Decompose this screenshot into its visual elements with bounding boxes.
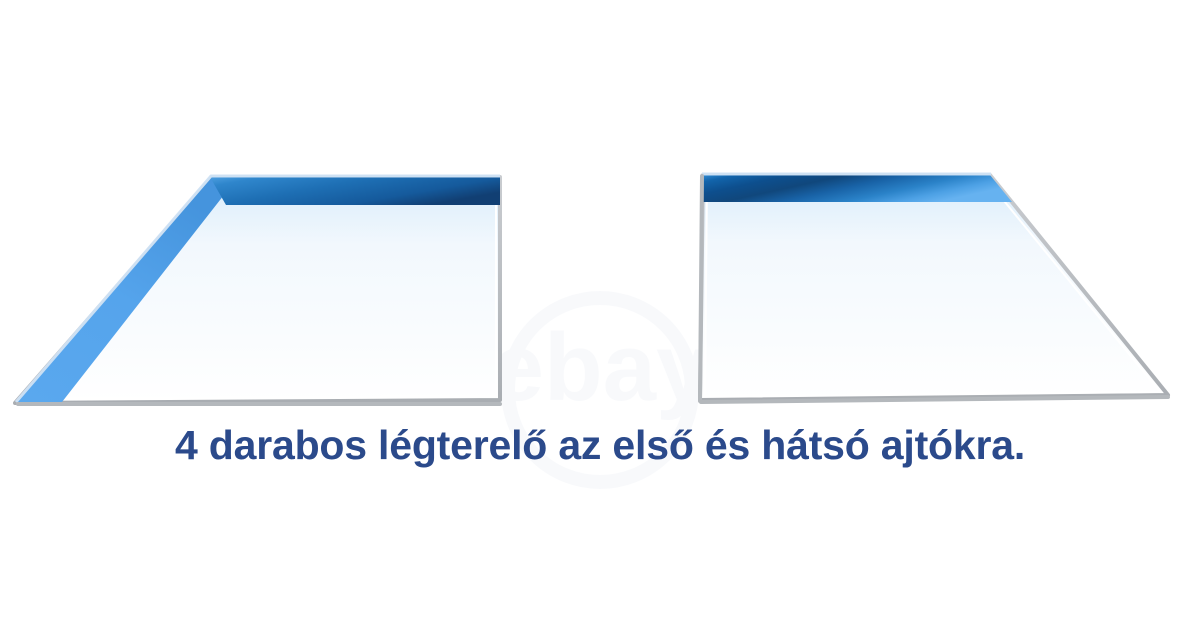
deflector-panel-front <box>15 176 500 404</box>
product-banner: ebay <box>0 0 1200 630</box>
panel-left-rail-rear <box>700 176 702 401</box>
panel-glass-front <box>15 177 500 403</box>
panel-band-top-rear <box>703 175 1012 202</box>
panel-band-top-front <box>210 177 500 205</box>
panel-glass-rear <box>700 175 1168 400</box>
deflector-diagram <box>0 0 1200 630</box>
caption-text: 4 darabos légterelő az első és hátsó ajt… <box>0 424 1200 467</box>
deflector-panel-rear <box>700 174 1168 402</box>
